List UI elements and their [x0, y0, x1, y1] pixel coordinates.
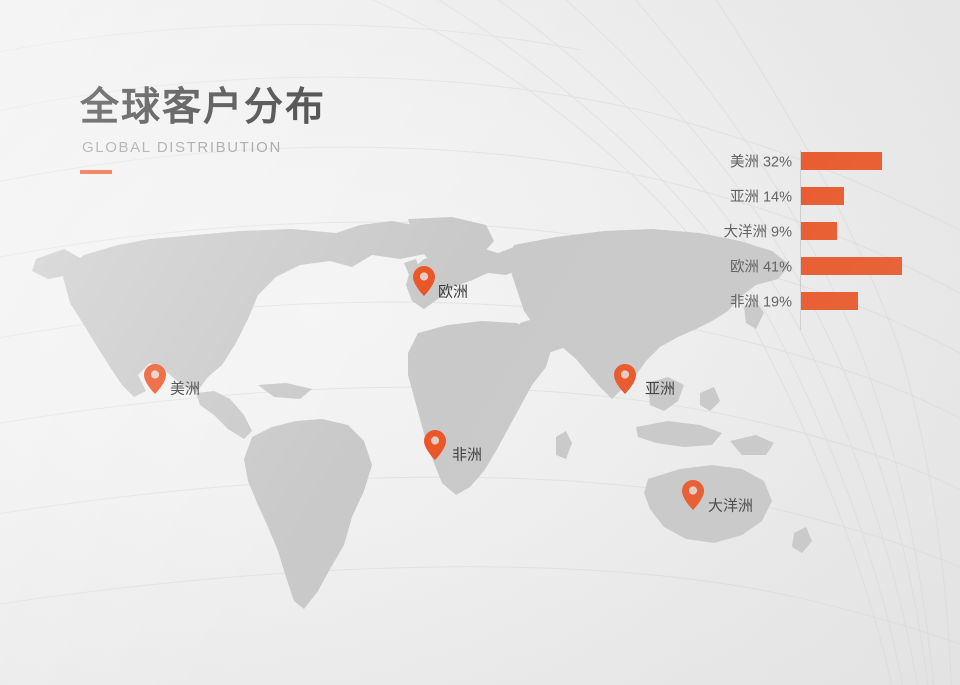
chart-bar-track	[801, 222, 837, 240]
page-subtitle: GLOBAL DISTRIBUTION	[82, 139, 326, 156]
map-pin-label-asia: 亚洲	[645, 378, 675, 399]
chart-row-label: 非洲 19%	[730, 291, 792, 312]
chart-row-label: 欧洲 41%	[730, 256, 792, 277]
chart-bar[interactable]	[801, 152, 882, 170]
map-pin-africa[interactable]	[424, 430, 446, 460]
location-pin-icon	[144, 364, 166, 394]
map-pin-americas[interactable]	[144, 364, 166, 394]
map-pin-label-americas: 美洲	[170, 378, 200, 399]
continent-central-america	[196, 391, 252, 439]
chart-row: 欧洲 41%	[700, 255, 930, 277]
chart-bar-track	[801, 292, 858, 310]
chart-row: 美洲 32%	[700, 150, 930, 172]
distribution-bar-chart: 美洲 32%亚洲 14%大洋洲 9%欧洲 41%非洲 19%	[700, 150, 930, 330]
location-pin-icon	[614, 364, 636, 394]
chart-row-label: 大洋洲 9%	[724, 221, 793, 242]
continent-caribbean	[258, 383, 312, 399]
continent-philippines	[700, 387, 720, 411]
continent-africa	[408, 321, 552, 495]
map-pin-asia[interactable]	[614, 364, 636, 394]
chart-bar[interactable]	[801, 187, 844, 205]
location-pin-icon	[413, 266, 435, 296]
chart-bar-track	[801, 257, 902, 275]
location-pin-icon	[682, 480, 704, 510]
map-pin-label-africa: 非洲	[452, 444, 482, 465]
map-pin-europe[interactable]	[413, 266, 435, 296]
chart-row: 亚洲 14%	[700, 185, 930, 207]
chart-bar[interactable]	[801, 257, 902, 275]
chart-row: 大洋洲 9%	[700, 220, 930, 242]
continent-indonesia	[636, 421, 722, 447]
heading-block: 全球客户分布 GLOBAL DISTRIBUTION	[80, 88, 326, 174]
map-pin-oceania[interactable]	[682, 480, 704, 510]
continent-north-america	[62, 221, 446, 397]
accent-underline	[80, 170, 112, 174]
chart-bar-track	[801, 187, 844, 205]
continent-south-america	[244, 419, 372, 609]
continent-papua	[730, 435, 774, 455]
chart-row: 非洲 19%	[700, 290, 930, 312]
location-pin-icon	[424, 430, 446, 460]
map-pin-label-oceania: 大洋洲	[708, 495, 753, 516]
chart-row-label: 美洲 32%	[730, 151, 792, 172]
chart-bar[interactable]	[801, 292, 858, 310]
page-title: 全球客户分布	[80, 88, 326, 129]
chart-bar[interactable]	[801, 222, 837, 240]
continent-madagascar	[556, 431, 572, 459]
chart-bar-track	[801, 152, 882, 170]
chart-row-label: 亚洲 14%	[730, 186, 792, 207]
continent-new-zealand	[792, 527, 812, 553]
map-pin-label-europe: 欧洲	[438, 281, 468, 302]
slide-canvas: 全球客户分布 GLOBAL DISTRIBUTION	[0, 0, 960, 685]
